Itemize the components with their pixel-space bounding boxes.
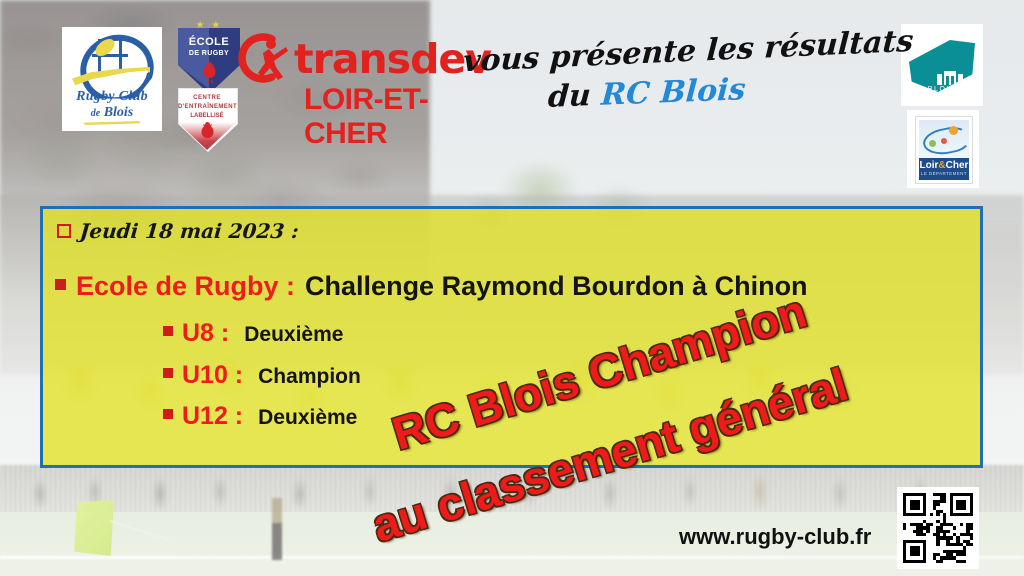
shield-subtitle: DE RUGBY	[178, 50, 240, 57]
club-name-line1: Rugby Club	[62, 89, 162, 105]
result-age-label: U12 :	[182, 402, 243, 431]
result-row-u12: U12 : Deuxième	[163, 402, 357, 431]
result-placement: Deuxième	[244, 323, 343, 347]
result-age-label: U8 :	[182, 319, 229, 348]
department-name-amp: &	[938, 160, 945, 171]
result-age-label: U10 :	[182, 361, 243, 390]
results-event-name: Challenge Raymond Bourdon à Chinon	[305, 271, 808, 302]
club-name-line2: de Blois	[62, 105, 162, 121]
result-row-u10: U10 : Champion	[163, 361, 361, 390]
department-name-right: Cher	[946, 160, 969, 171]
header-tagline-line2: du RC Blois	[547, 72, 747, 115]
results-main-item: Ecole de Rugby : Challenge Raymond Bourd…	[55, 271, 808, 302]
logo-illustration	[919, 120, 969, 158]
results-panel: Jeudi 18 mai 2023 : Ecole de Rugby : Cha…	[40, 206, 983, 468]
rugby-club-de-blois-logo: Rugby Club de Blois	[62, 27, 162, 131]
red-square-bullet-icon	[55, 279, 66, 290]
shield-subtitle: D'ENTRAÎNEMENT	[178, 104, 236, 110]
red-dot	[941, 138, 947, 144]
result-row-u8: U8 : Deuxième	[163, 319, 343, 348]
poster-canvas: Rugby Club de Blois ★ ★ ÉCOLE DE RUGBY C…	[0, 0, 1024, 576]
logo-card: Loir&Cher LE DÉPARTEMENT	[915, 116, 973, 184]
results-date-row: Jeudi 18 mai 2023 :	[56, 219, 300, 243]
empty-checkbox-icon	[57, 224, 71, 238]
red-square-bullet-icon	[163, 326, 173, 336]
castle-icon	[935, 70, 965, 86]
department-name-left: Loir	[920, 160, 939, 171]
red-square-bullet-icon	[163, 368, 173, 378]
club-name-blois: Blois	[104, 105, 134, 120]
qr-code-grid	[903, 493, 973, 563]
ffr-ecole-de-rugby-shield: ★ ★ ÉCOLE DE RUGBY	[178, 28, 240, 94]
header-tagline-club: RC Blois	[600, 72, 747, 113]
qr-code-icon[interactable]	[897, 487, 979, 569]
logo-underline-accent	[84, 121, 140, 125]
french-rooster-icon	[199, 60, 219, 84]
orange-dot	[949, 126, 958, 135]
red-square-bullet-icon	[163, 409, 173, 419]
green-dot	[929, 140, 936, 147]
website-url[interactable]: www.rugby-club.fr	[679, 524, 871, 550]
transdev-running-figure-icon	[238, 33, 290, 83]
logo-nameplate: Loir&Cher LE DÉPARTEMENT	[919, 158, 969, 180]
club-name-de: de	[91, 108, 100, 119]
shield-subtitle2: LABELLISÉ	[178, 113, 236, 119]
ffr-centre-entrainement-labellise-shield: CENTRE D'ENTRAÎNEMENT LABELLISÉ	[178, 88, 236, 150]
department-tagline: LE DÉPARTEMENT	[919, 171, 969, 176]
shield-stars: ★ ★	[178, 20, 240, 31]
shield-title: CENTRE	[178, 95, 236, 101]
results-category-label: Ecole de Rugby :	[76, 271, 295, 302]
result-placement: Deuxième	[258, 406, 357, 430]
header-tagline: vous présente les résultats du RC Blois	[455, 34, 925, 124]
header-tagline-du: du	[547, 78, 603, 115]
shield-title: ÉCOLE	[178, 36, 240, 48]
department-name: Loir&Cher	[919, 160, 969, 171]
result-placement: Champion	[258, 365, 361, 389]
french-rooster-icon	[197, 120, 217, 144]
results-date-label: Jeudi 18 mai 2023 :	[79, 219, 300, 243]
